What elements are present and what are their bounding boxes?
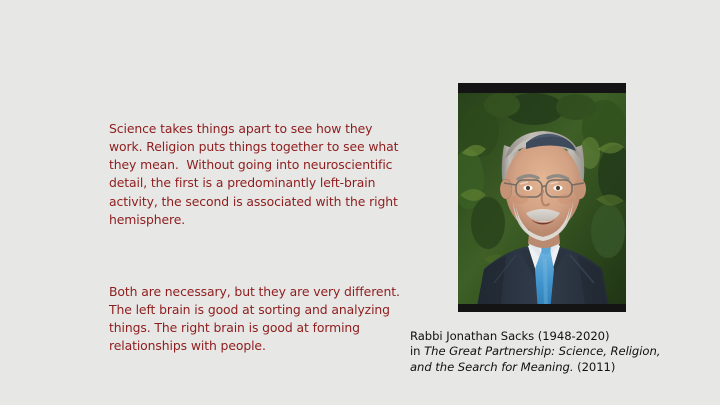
attribution-block: Rabbi Jonathan Sacks (1948-2020) in The …	[410, 329, 705, 375]
attribution-book-title-part-1: The Great Partnership: Science, Religion…	[424, 344, 660, 358]
quote-paragraph-2: Both are necessary, but they are very di…	[109, 283, 454, 355]
quote-text-block: Science takes things apart to see how th…	[109, 84, 454, 392]
rabbi-jonathan-sacks-photo	[458, 83, 626, 312]
attribution-source-line-2: and the Search for Meaning. (2011)	[410, 360, 705, 375]
slide-canvas: Science takes things apart to see how th…	[0, 0, 720, 405]
attribution-in-prefix: in	[410, 344, 424, 358]
quote-paragraph-1: Science takes things apart to see how th…	[109, 120, 454, 229]
portrait-figure	[458, 83, 626, 312]
attribution-author: Rabbi Jonathan Sacks (1948-2020)	[410, 329, 705, 344]
attribution-source-line-1: in The Great Partnership: Science, Relig…	[410, 344, 705, 359]
attribution-year: (2011)	[573, 360, 615, 374]
attribution-book-title-part-2: and the Search for Meaning.	[410, 360, 573, 374]
